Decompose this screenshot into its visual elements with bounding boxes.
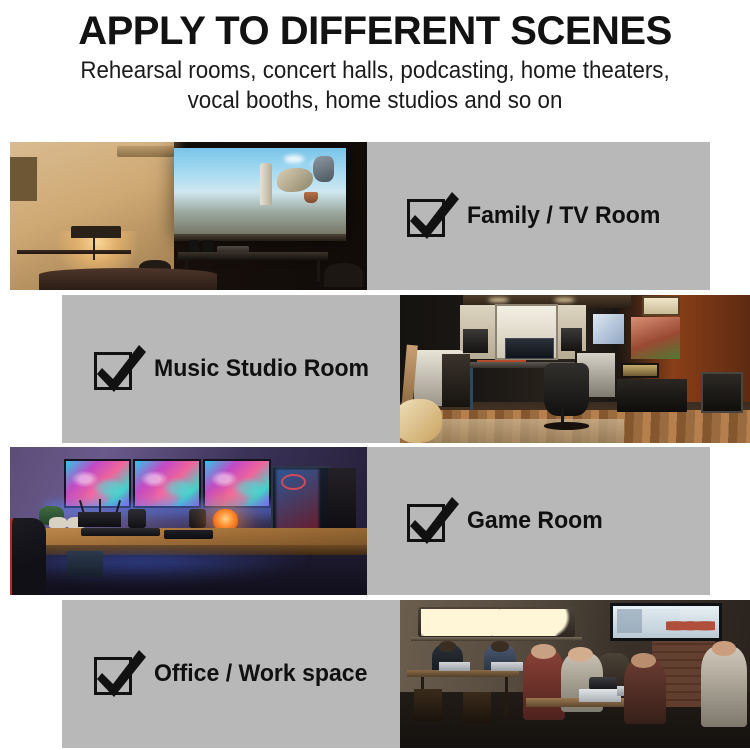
scene-label: Office / Work space — [154, 660, 367, 688]
scene-list: Family / TV Room Music Studio Room — [0, 142, 750, 750]
scene-row-game-room: Game Room — [10, 447, 710, 595]
page-subtitle: Rehearsal rooms, concert halls, podcasti… — [26, 53, 724, 116]
checkmark-icon[interactable] — [94, 653, 136, 695]
scene-item-game-room[interactable]: Game Room — [367, 500, 608, 542]
scene-label: Music Studio Room — [154, 355, 369, 383]
infographic-page: APPLY TO DIFFERENT SCENES Rehearsal room… — [0, 0, 750, 750]
scene-row-family-tv-room: Family / TV Room — [10, 142, 710, 290]
scene-photo-office-work-space — [400, 600, 750, 748]
scene-row-office-work-space: Office / Work space — [62, 600, 750, 748]
checkmark-icon[interactable] — [94, 348, 136, 390]
scene-row-music-studio-room: Music Studio Room — [62, 295, 750, 443]
scene-panel-office-work-space: Office / Work space — [62, 600, 400, 748]
scene-item-office-work-space[interactable]: Office / Work space — [62, 653, 376, 695]
page-title: APPLY TO DIFFERENT SCENES — [0, 9, 750, 53]
checkmark-icon[interactable] — [407, 500, 449, 542]
scene-photo-game-room — [10, 447, 367, 595]
scene-photo-family-tv-room — [10, 142, 367, 290]
scene-label: Family / TV Room — [467, 202, 660, 230]
scene-item-music-studio-room[interactable]: Music Studio Room — [62, 348, 378, 390]
scene-label: Game Room — [467, 507, 603, 535]
scene-panel-family-tv-room: Family / TV Room — [367, 142, 710, 290]
checkmark-icon[interactable] — [407, 195, 449, 237]
subtitle-line-2: vocal booths, home studios and so on — [26, 86, 724, 116]
scene-panel-game-room: Game Room — [367, 447, 710, 595]
scene-item-family-tv-room[interactable]: Family / TV Room — [367, 195, 668, 237]
header: APPLY TO DIFFERENT SCENES Rehearsal room… — [0, 0, 750, 116]
scene-panel-music-studio-room: Music Studio Room — [62, 295, 400, 443]
scene-photo-music-studio-room — [400, 295, 750, 443]
subtitle-line-1: Rehearsal rooms, concert halls, podcasti… — [26, 56, 724, 86]
